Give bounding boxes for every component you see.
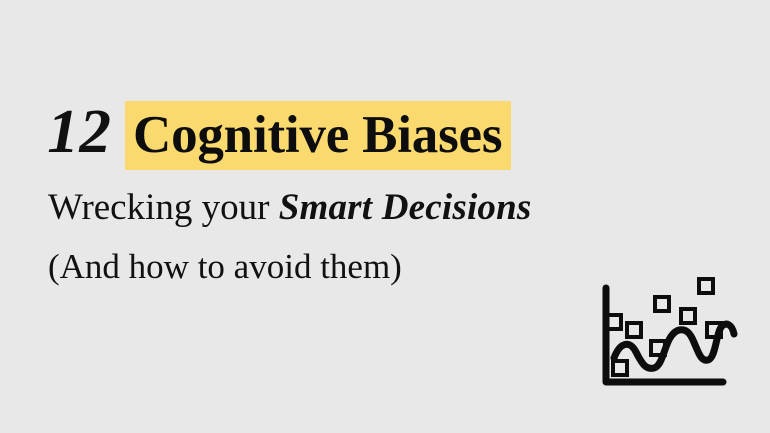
chart-marker-6: [699, 279, 713, 293]
chart-curve-path: [614, 324, 734, 368]
headline-highlighted-text: Cognitive Biases: [125, 101, 511, 170]
subtitle-emphasis-text: Smart Decisions: [279, 187, 532, 228]
headline-count: 12: [47, 96, 126, 168]
chart-marker-5: [681, 309, 695, 323]
chart-marker-2: [613, 361, 627, 375]
scatter-plot-chart-icon: [592, 272, 740, 394]
subtitle-line-one: Wrecking your Smart Decisions: [48, 186, 532, 230]
chart-marker-1: [627, 323, 641, 337]
slide-canvas: 12 Cognitive Biases Wrecking your Smart …: [0, 0, 770, 433]
chart-trend-curve: [614, 324, 734, 368]
chart-icon-svg: [592, 272, 740, 394]
headline-block: 12 Cognitive Biases: [48, 96, 648, 168]
subtitle-line-two: (And how to avoid them): [48, 245, 402, 289]
subtitle-plain-text: Wrecking your: [48, 187, 279, 228]
title-row: 12 Cognitive Biases: [48, 96, 648, 168]
chart-marker-3: [655, 297, 669, 311]
